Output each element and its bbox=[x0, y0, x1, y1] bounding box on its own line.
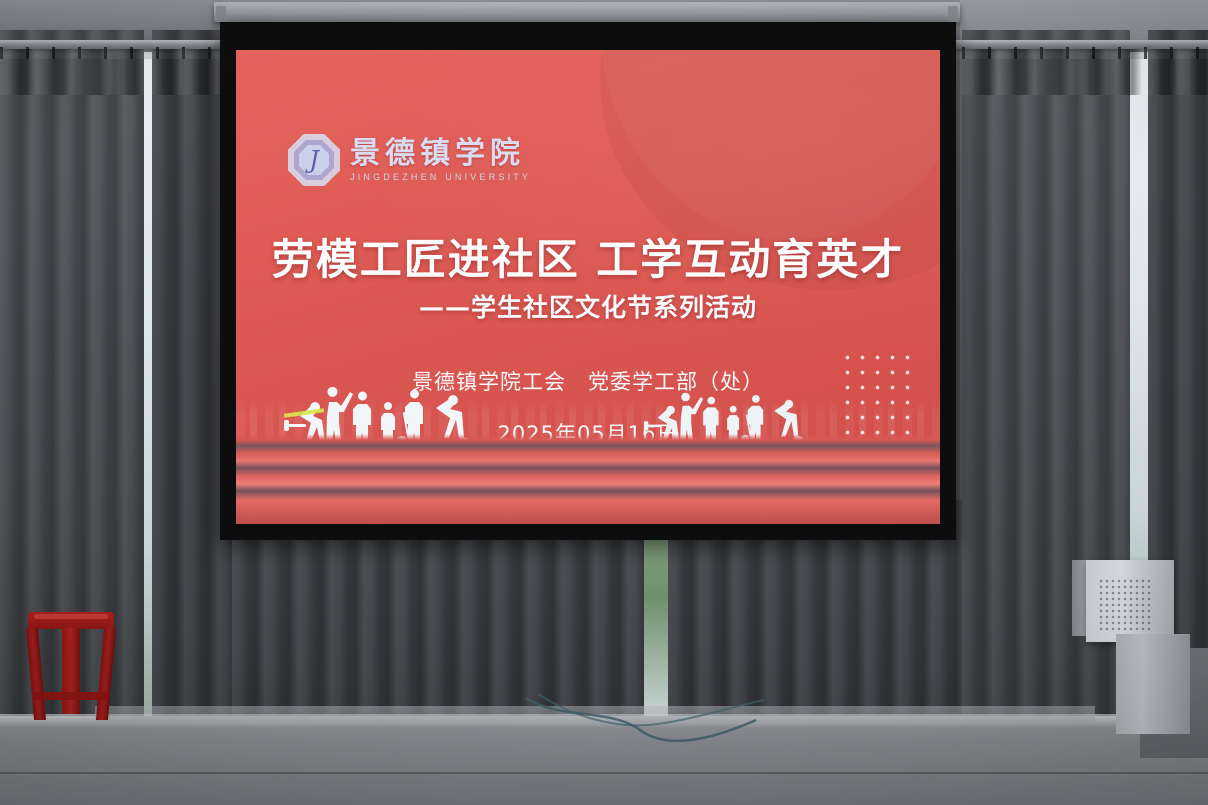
logo-text-block: 景德镇学院 JINGDEZHEN UNIVERSITY bbox=[350, 138, 531, 183]
roller-cap-right bbox=[948, 6, 958, 22]
stool-highlight bbox=[34, 614, 108, 619]
stool-leg-right bbox=[96, 628, 116, 720]
floor-cable bbox=[520, 690, 780, 770]
slide-title: 劳模工匠进社区 工学互动育英才 bbox=[236, 226, 940, 287]
screen-roller-housing[interactable] bbox=[214, 2, 960, 22]
projection-screen: J 景德镇学院 JINGDEZHEN UNIVERSITY 劳模工匠进社区 工学… bbox=[220, 22, 956, 540]
university-logo: J 景德镇学院 JINGDEZHEN UNIVERSITY bbox=[288, 134, 531, 186]
podium-base bbox=[1116, 634, 1190, 734]
stool-leg-left bbox=[26, 628, 46, 720]
seal-monogram: J bbox=[288, 134, 340, 186]
logo-name-cn: 景德镇学院 bbox=[350, 138, 531, 170]
room-photo: J 景德镇学院 JINGDEZHEN UNIVERSITY 劳模工匠进社区 工学… bbox=[0, 0, 1208, 805]
logo-name-en: JINGDEZHEN UNIVERSITY bbox=[350, 172, 531, 182]
stool-center-post bbox=[62, 628, 80, 714]
university-seal-icon: J bbox=[288, 134, 340, 186]
curtain-pleats-right bbox=[962, 49, 1208, 95]
presentation-slide: J 景德镇学院 JINGDEZHEN UNIVERSITY 劳模工匠进社区 工学… bbox=[236, 50, 940, 524]
roller-cap-left bbox=[216, 6, 226, 22]
curtain-pleats-left bbox=[0, 49, 232, 95]
red-plastic-stool bbox=[28, 612, 114, 720]
stripe-bands bbox=[236, 434, 940, 524]
stool-seat bbox=[28, 612, 114, 629]
floor-seam bbox=[0, 772, 1208, 774]
slide-subtitle: ——学生社区文化节系列活动 bbox=[236, 288, 940, 324]
speaker-grille-icon bbox=[1098, 578, 1154, 630]
stool-brace bbox=[34, 692, 108, 700]
